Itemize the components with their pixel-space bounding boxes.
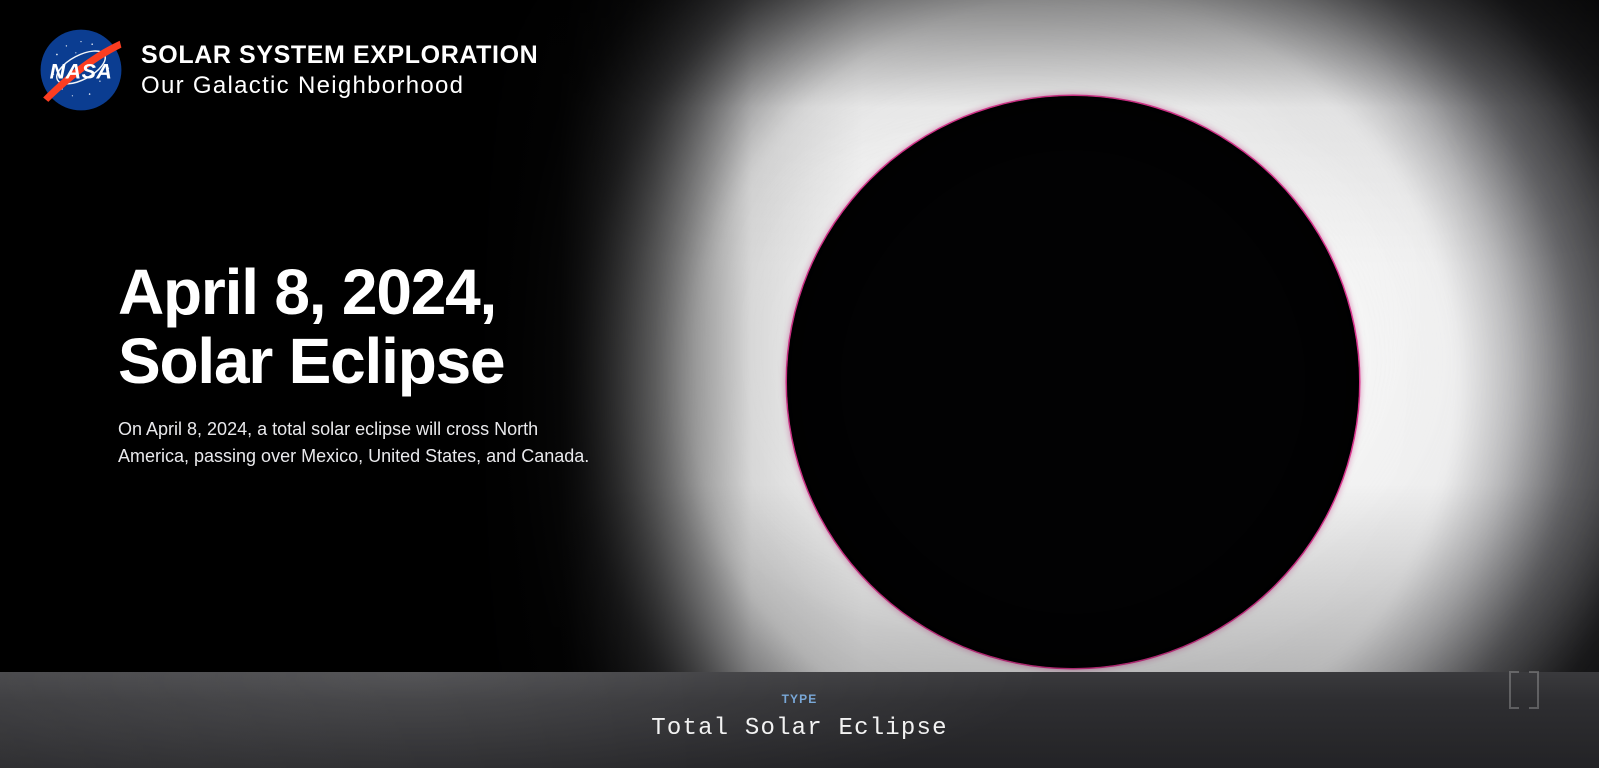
site-subtitle: Our Galactic Neighborhood [141,74,538,98]
hero-copy-block: April 8, 2024, Solar Eclipse On April 8,… [118,258,618,469]
fact-label: TYPE [782,692,818,706]
page-title: April 8, 2024, Solar Eclipse [118,258,618,396]
expand-image-button[interactable] [1505,668,1543,712]
fact-type: TYPE Total Solar Eclipse [0,692,1599,742]
hero-description: On April 8, 2024, a total solar eclipse … [118,416,600,469]
svg-text:NASA: NASA [50,60,113,84]
fact-value: Total Solar Eclipse [651,715,947,742]
nasa-meatball-logo[interactable]: NASA [38,27,124,113]
site-wordmark: SOLAR SYSTEM EXPLORATION Our Galactic Ne… [141,43,538,98]
expand-brackets-icon [1505,668,1543,712]
fact-bar: TYPE Total Solar Eclipse [0,672,1599,768]
site-masthead[interactable]: NASA SOLAR SYSTEM EXPLORATION Our Galact… [38,27,538,113]
lunar-disc [787,96,1359,668]
page-root: NASA SOLAR SYSTEM EXPLORATION Our Galact… [0,0,1599,768]
site-title: SOLAR SYSTEM EXPLORATION [141,43,538,68]
